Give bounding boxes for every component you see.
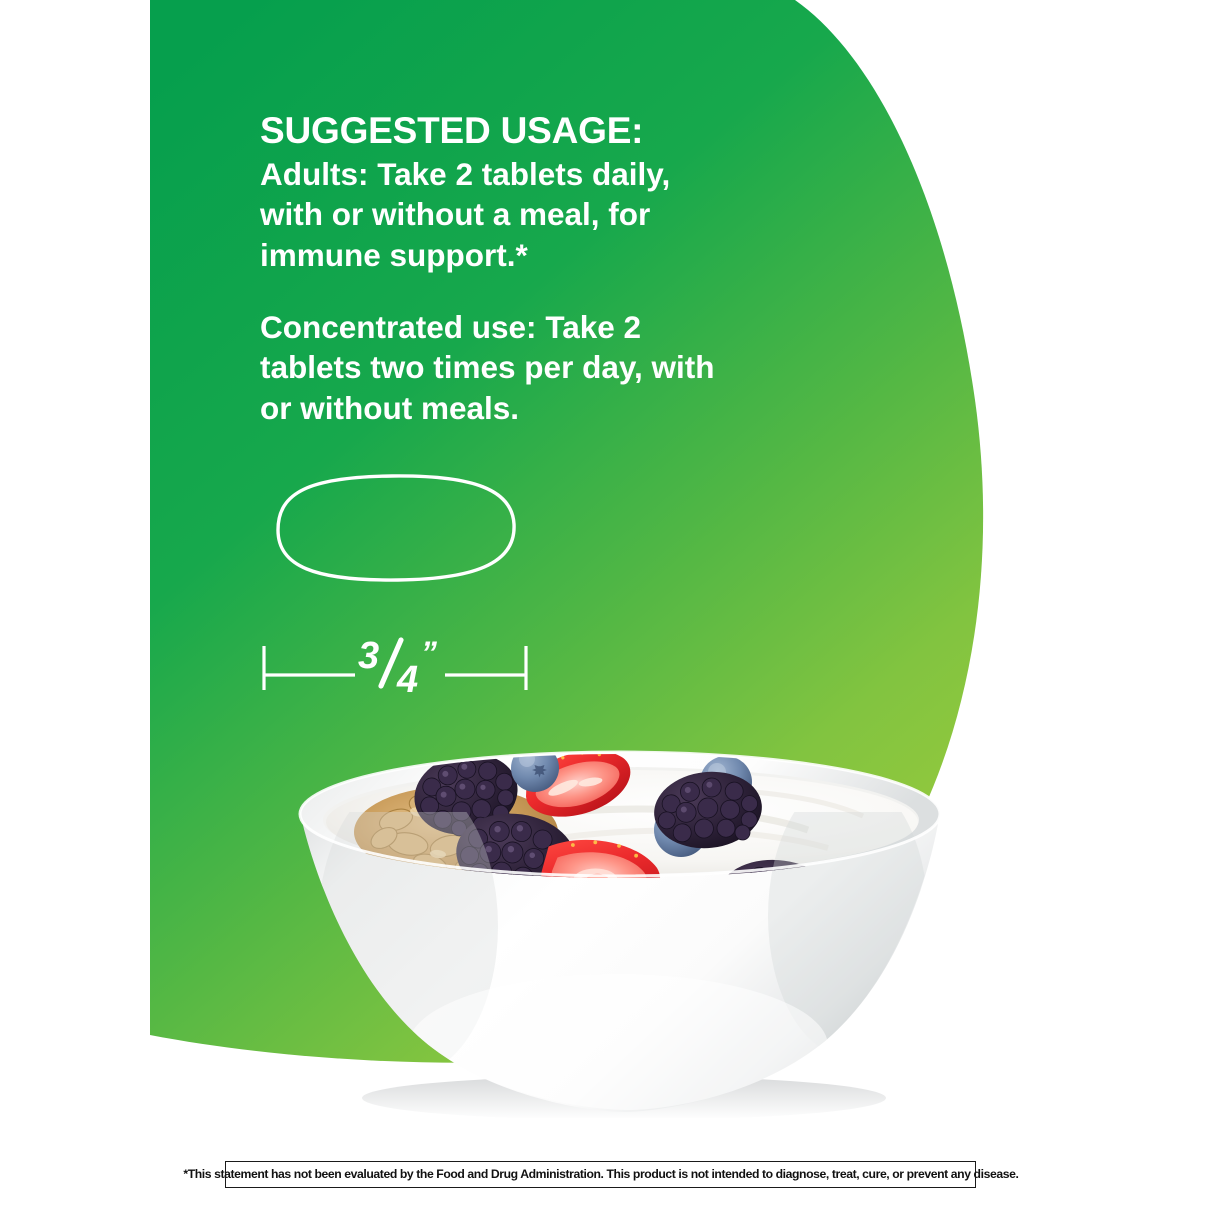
svg-text:4: 4 xyxy=(396,659,418,701)
usage-paragraph-adults: Adults: Take 2 tablets daily, with or wi… xyxy=(260,154,720,276)
svg-text:3: 3 xyxy=(358,635,379,677)
tablet-dimension-indicator: 3 4 ” xyxy=(255,634,545,706)
dimension-label: 3 4 ” xyxy=(358,635,437,701)
usage-paragraph-concentrated: Concentrated use: Take 2 tablets two tim… xyxy=(260,307,720,429)
usage-copy-block: SUGGESTED USAGE: Adults: Take 2 tablets … xyxy=(260,112,720,428)
usage-paragraph-concentrated-lead: Concentrated use: xyxy=(260,309,537,345)
usage-paragraph-adults-lead: Adults: xyxy=(260,156,368,192)
tablet-outline-illustration xyxy=(258,466,548,594)
product-label-panel: SUGGESTED USAGE: Adults: Take 2 tablets … xyxy=(0,0,1212,1212)
yogurt-bowl-photo xyxy=(288,746,952,1118)
fda-disclaimer-text: *This statement has not been evaluated b… xyxy=(183,1168,1018,1180)
svg-text:”: ” xyxy=(421,635,437,671)
page-title: SUGGESTED USAGE: xyxy=(260,112,720,150)
fda-disclaimer-box: *This statement has not been evaluated b… xyxy=(225,1161,976,1188)
